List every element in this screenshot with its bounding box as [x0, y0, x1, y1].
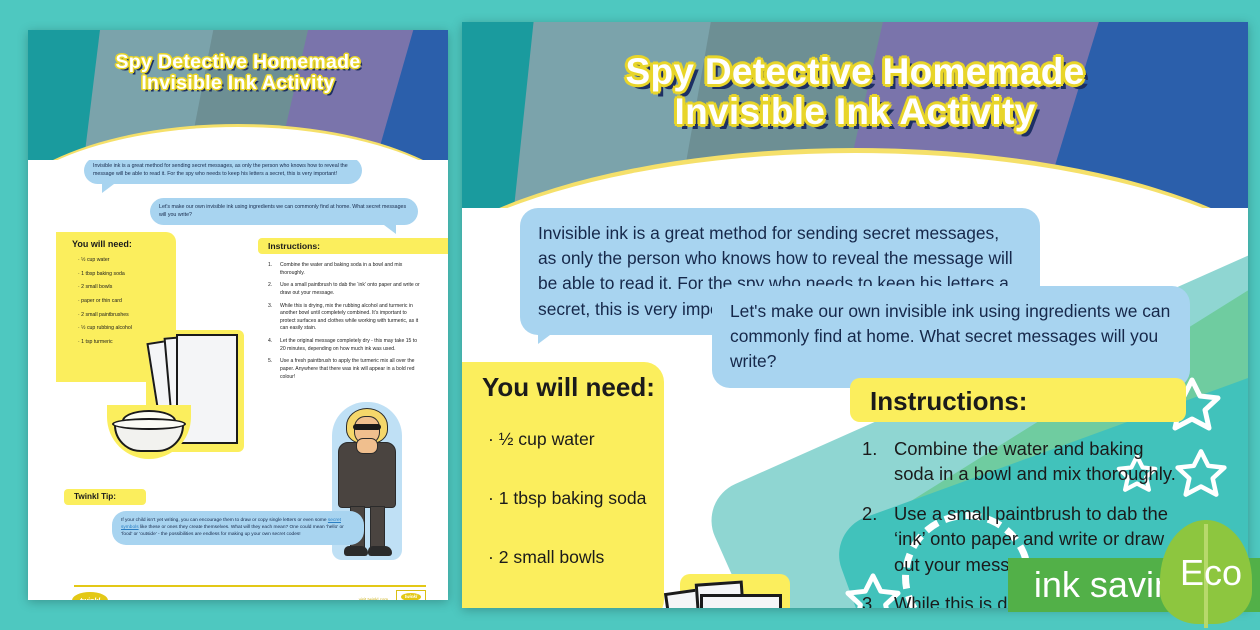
- zoom-material-item-text: ½ cup water: [499, 429, 595, 449]
- zoom-paper-sheet-front: [700, 594, 782, 608]
- bowl-illustration: [110, 408, 188, 456]
- zoom-material-item-text: paper or thin card: [499, 606, 637, 608]
- instruction-step-text: Use a fresh paintbrush to apply the turm…: [280, 358, 415, 379]
- preview-stage: Spy Detective Homemade Invisible Ink Act…: [0, 0, 1260, 630]
- zoom-page-title: Spy Detective Homemade Invisible Ink Act…: [462, 52, 1248, 132]
- tip-text-part-1: If your child isn’t yet writing, you can…: [121, 518, 328, 523]
- instruction-step: Use a small paintbrush to dab the ‘ink’ …: [268, 282, 420, 297]
- instruction-step: Let the original message completely dry …: [268, 338, 420, 353]
- zoom-instruction-step: Combine the water and baking soda in a b…: [862, 436, 1178, 487]
- intro-bubble-1: Invisible ink is a great method for send…: [84, 157, 362, 184]
- instruction-step-text: Use a small paintbrush to dab the ‘ink’ …: [280, 282, 420, 296]
- resource-thumbnail-page[interactable]: Spy Detective Homemade Invisible Ink Act…: [28, 30, 448, 600]
- material-item-text: ½ cup water: [81, 257, 109, 263]
- twinkl-logo-text: twinkl: [80, 596, 100, 600]
- material-item: · ½ cup water: [78, 254, 178, 268]
- material-item: · 2 small paintbrushes: [78, 309, 178, 323]
- instruction-step-text: Combine the water and baking soda in a b…: [280, 262, 402, 276]
- thumbnail-banner: Spy Detective Homemade Invisible Ink Act…: [28, 30, 448, 160]
- material-item-text: 1 tbsp baking soda: [81, 271, 125, 277]
- instruction-step-text: While this is drying, mix the rubbing al…: [280, 303, 418, 332]
- zoom-materials-heading: You will need:: [482, 372, 655, 403]
- zoom-material-item: · 1 tbsp baking soda: [488, 469, 678, 528]
- intro-bubble-2: Let's make our own invisible ink using i…: [150, 198, 418, 225]
- tip-bubble: If your child isn’t yet writing, you can…: [112, 511, 364, 545]
- zoom-materials-list: · ½ cup water· 1 tbsp baking soda· 2 sma…: [488, 410, 678, 608]
- material-item-text: paper or thin card: [81, 298, 122, 304]
- certificate-badge-logo: twinkl: [401, 593, 421, 600]
- instruction-step-text: Let the original message completely dry …: [280, 338, 417, 352]
- spy-shoe-left: [344, 546, 368, 556]
- instruction-step: While this is drying, mix the rubbing al…: [268, 303, 420, 334]
- instruction-step: Use a fresh paintbrush to apply the turm…: [268, 358, 420, 381]
- zoom-intro-bubble-2: Let's make our own invisible ink using i…: [712, 286, 1190, 388]
- zoom-intro-bubble-2-text: Let's make our own invisible ink using i…: [730, 301, 1170, 371]
- zoom-material-item: · ½ cup water: [488, 410, 678, 469]
- eco-badge-eco-label: Eco: [1180, 552, 1242, 594]
- bowl-rim: [112, 418, 186, 430]
- zoom-page-title-line-2: Invisible Ink Activity: [462, 92, 1248, 132]
- material-item-text: ½ cup rubbing alcohol: [81, 325, 132, 331]
- intro-bubble-1-text: Invisible ink is a great method for send…: [93, 163, 348, 177]
- ink-saving-eco-badge: ink saving Eco: [980, 510, 1260, 630]
- material-item-text: 2 small paintbrushes: [81, 312, 129, 318]
- instructions-list: Combine the water and baking soda in a b…: [268, 262, 420, 386]
- zoom-page-title-line-1: Spy Detective Homemade: [462, 52, 1248, 92]
- material-item: · 1 tbsp baking soda: [78, 268, 178, 282]
- certificate-badge: twinkl: [396, 590, 426, 600]
- material-item: · paper or thin card: [78, 295, 178, 309]
- tip-text-part-2: like these or ones they create themselve…: [121, 525, 344, 537]
- zoom-instruction-step-text: Combine the water and baking soda in a b…: [894, 438, 1176, 484]
- tip-heading: Twinkl Tip:: [74, 492, 116, 501]
- bullet-icon: ·: [488, 488, 499, 508]
- zoom-material-item-text: 2 small bowls: [499, 547, 605, 567]
- instructions-heading: Instructions:: [268, 241, 320, 251]
- material-item: · 2 small bowls: [78, 281, 178, 295]
- page-title-line-1: Spy Detective Homemade: [28, 52, 448, 73]
- spy-sunglasses: [353, 424, 381, 430]
- footer-divider: [74, 585, 426, 587]
- page-title: Spy Detective Homemade Invisible Ink Act…: [28, 52, 448, 94]
- twinkl-logo: twinkl: [72, 592, 108, 600]
- material-item-text: 1 tsp turmeric: [81, 339, 112, 345]
- zoom-instructions-heading: Instructions:: [870, 386, 1027, 417]
- instruction-step: Combine the water and baking soda in a b…: [268, 262, 420, 277]
- zoom-material-item: · 2 small bowls: [488, 528, 678, 587]
- materials-heading: You will need:: [72, 239, 132, 249]
- intro-bubble-2-text: Let's make our own invisible ink using i…: [159, 204, 406, 218]
- spy-shoe-right: [368, 546, 392, 556]
- zoom-material-item: · paper or thin card: [488, 587, 678, 608]
- spy-leg-right: [370, 506, 385, 550]
- bullet-icon: ·: [488, 606, 499, 608]
- bullet-icon: ·: [488, 429, 499, 449]
- footer-url: visit twinkl.com: [359, 597, 388, 600]
- material-item-text: 2 small bowls: [81, 284, 112, 290]
- star-icon-medium: [1174, 446, 1228, 500]
- page-title-line-2: Invisible Ink Activity: [28, 73, 448, 94]
- spy-hands: [356, 438, 378, 454]
- bullet-icon: ·: [488, 547, 499, 567]
- zoom-material-item-text: 1 tbsp baking soda: [499, 488, 647, 508]
- zoom-banner: Spy Detective Homemade Invisible Ink Act…: [462, 22, 1248, 208]
